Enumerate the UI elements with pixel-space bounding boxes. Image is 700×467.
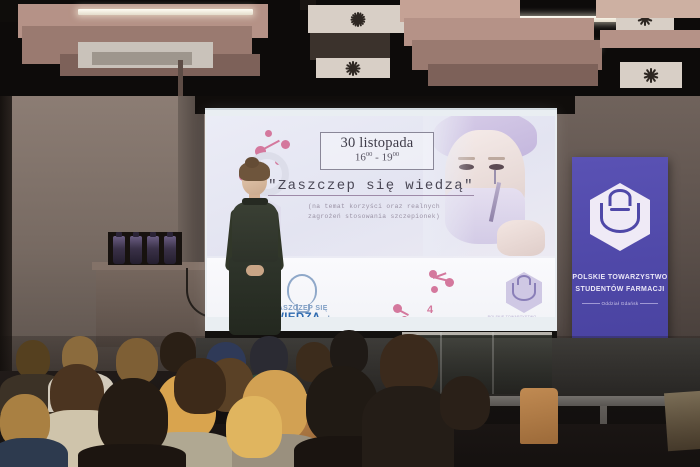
- chair: [520, 388, 558, 444]
- slide-subtitle: (na temat korzyści oraz realnych zagroże…: [269, 202, 479, 222]
- wall-dark-edge: [0, 96, 12, 371]
- lightbulb-icon: [287, 274, 317, 306]
- hexagon-mortar-icon: [590, 183, 650, 251]
- hexagon-mortar-icon: [506, 272, 542, 313]
- ceiling: [0, 0, 700, 100]
- audience-head: [116, 338, 158, 384]
- air-vent: [316, 58, 390, 78]
- audience-head: [174, 358, 226, 414]
- slide-headline: "Zaszczep się wiedzą": [251, 178, 491, 194]
- audience-head: [226, 396, 282, 458]
- banner-subtitle: Oddział Gdańsk: [572, 301, 668, 306]
- audience: [0, 336, 700, 467]
- sponsor-ptsf: POLSKIE TOWARZYSTWO STUDENTÓW FARMACJI: [493, 272, 555, 317]
- audience-head: [16, 340, 50, 378]
- event-time: 1600 - 1900: [325, 151, 429, 165]
- water-bottle: [130, 236, 142, 264]
- water-bottle: [113, 236, 125, 264]
- event-date-box: 30 listopada 1600 - 1900: [320, 132, 434, 170]
- sponsor-o4: 4: [389, 268, 461, 317]
- audience-head: [440, 376, 490, 430]
- banner-title: POLSKIE TOWARZYSTWO STUDENTÓW FARMACJI: [572, 272, 668, 297]
- sponsor-caption: POLSKIE TOWARZYSTWO STUDENTÓW FARMACJI: [481, 315, 543, 317]
- air-vent: [308, 5, 408, 33]
- presenter-hands: [246, 265, 264, 276]
- water-bottle: [147, 236, 159, 264]
- ceiling-light-strip: [78, 9, 253, 15]
- event-date: 30 listopada: [325, 136, 429, 151]
- o4-subscript: 4: [427, 304, 433, 316]
- presenter: [222, 165, 286, 340]
- air-vent: [620, 62, 682, 88]
- water-bottle: [164, 236, 176, 264]
- presentation-photo: 30 listopada 1600 - 1900 "Zaszczep się w…: [0, 0, 700, 467]
